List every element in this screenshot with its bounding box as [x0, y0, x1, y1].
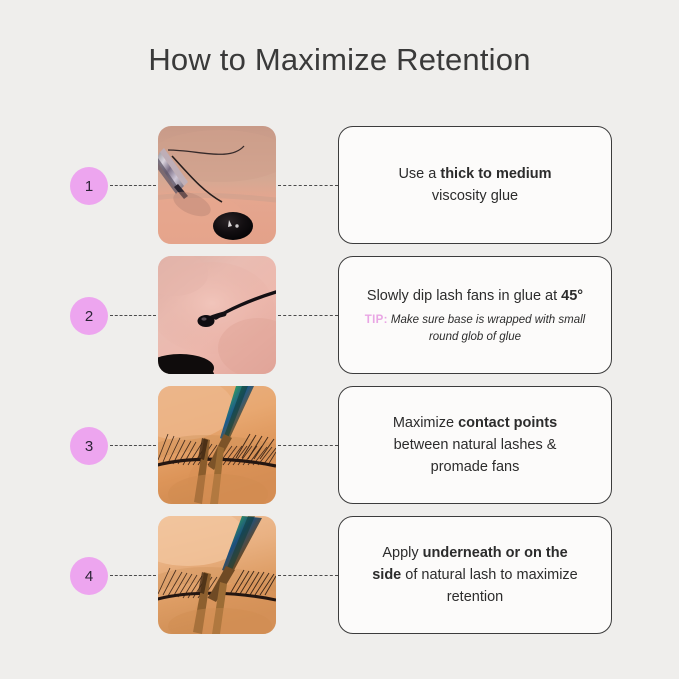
step-text-normal: Maximize: [393, 415, 458, 431]
step-text-line-3: retention: [447, 586, 503, 608]
lash-fan-dipped-image: [158, 256, 276, 374]
step-number-badge: 2: [70, 297, 108, 335]
step-row: 3: [0, 386, 679, 504]
step-text-line-1: Apply underneath or on the: [382, 542, 567, 564]
connector-photo-to-card: [278, 315, 338, 316]
connector-badge-to-photo: [110, 315, 156, 316]
step-text-bold: 45°: [561, 288, 583, 304]
step-text-bold-2: side: [372, 567, 401, 583]
lash-glue-drop-image: [158, 126, 276, 244]
step-card-2: Slowly dip lash fans in glue at 45° TIP:…: [338, 256, 612, 374]
page-title: How to Maximize Retention: [0, 42, 679, 78]
step-text-line-2: side of natural lash to maximize: [372, 564, 578, 586]
tip-text: Make sure base is wrapped with small rou…: [391, 314, 585, 343]
step-text-bold: thick to medium: [440, 166, 551, 182]
step-text-normal: Use a: [398, 166, 440, 182]
step-text-bold: contact points: [458, 415, 557, 431]
step-text-bold: underneath or on the: [423, 545, 568, 561]
step-text-line-1: Slowly dip lash fans in glue at 45°: [367, 285, 583, 307]
step-text-normal-2: of natural lash to maximize: [401, 567, 578, 583]
step-text-line-1: Use a thick to medium: [398, 163, 551, 185]
step-photo-2: [158, 256, 276, 374]
connector-photo-to-card: [278, 575, 338, 576]
step-text-normal: Apply: [382, 545, 422, 561]
step-tip: TIP: Make sure base is wrapped with smal…: [355, 312, 595, 346]
step-text-line-1: Maximize contact points: [393, 412, 557, 434]
step-number-badge: 4: [70, 557, 108, 595]
step-text-line-3: promade fans: [431, 456, 520, 478]
step-card-3: Maximize contact points between natural …: [338, 386, 612, 504]
infographic-root: How to Maximize Retention 1: [0, 0, 679, 679]
connector-photo-to-card: [278, 185, 338, 186]
step-row: 4: [0, 516, 679, 634]
lash-contact-points-image: [158, 386, 276, 504]
step-row: 2: [0, 256, 679, 374]
step-card-4: Apply underneath or on the side of natur…: [338, 516, 612, 634]
step-text-normal: Slowly dip lash fans in glue at: [367, 288, 561, 304]
step-photo-1: [158, 126, 276, 244]
step-number-badge: 1: [70, 167, 108, 205]
connector-badge-to-photo: [110, 445, 156, 446]
tip-label: TIP:: [365, 314, 388, 326]
step-text-line-2: between natural lashes &: [394, 434, 557, 456]
lash-underneath-application-image: [158, 516, 276, 634]
connector-photo-to-card: [278, 445, 338, 446]
connector-badge-to-photo: [110, 185, 156, 186]
connector-badge-to-photo: [110, 575, 156, 576]
step-card-1: Use a thick to medium viscosity glue: [338, 126, 612, 244]
step-text-line-2: viscosity glue: [432, 185, 518, 207]
step-photo-3: [158, 386, 276, 504]
step-photo-4: [158, 516, 276, 634]
step-number-badge: 3: [70, 427, 108, 465]
step-row: 1: [0, 126, 679, 244]
